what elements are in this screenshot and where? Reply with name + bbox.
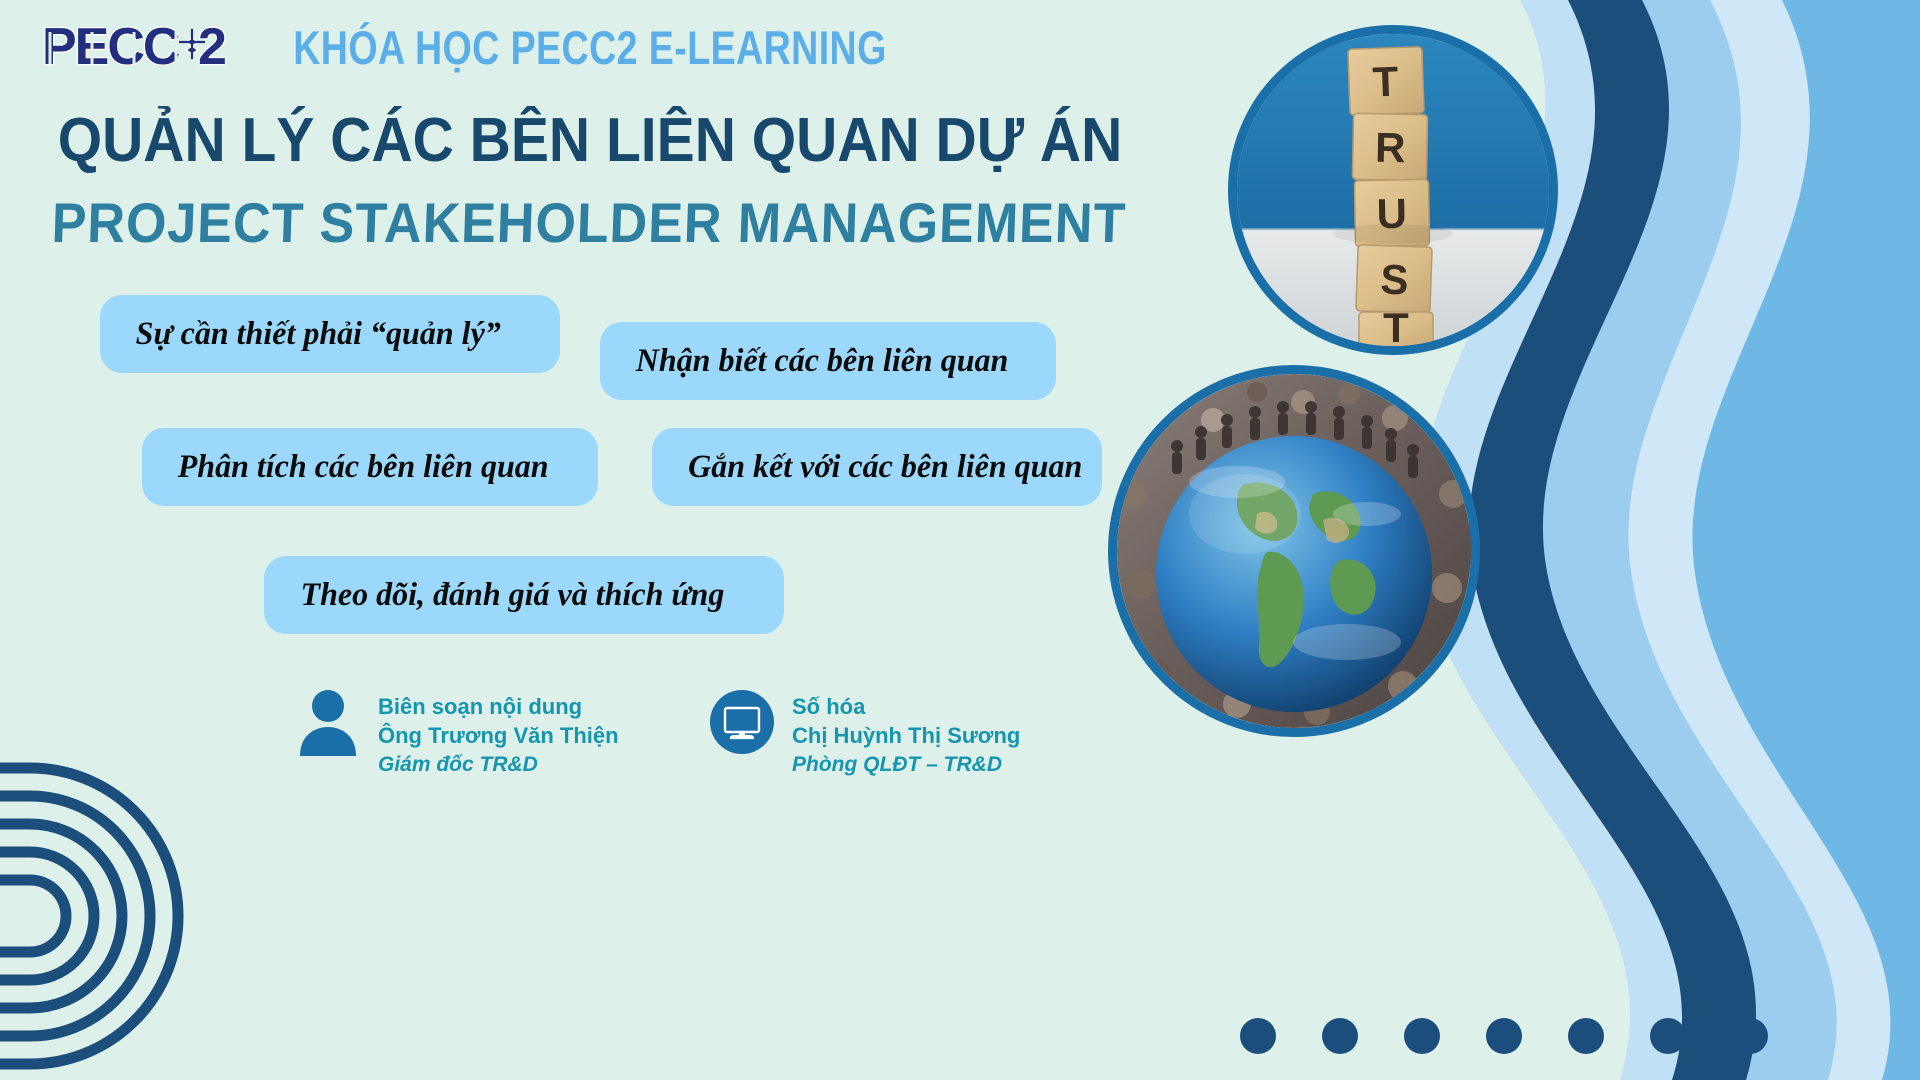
monitor-icon — [710, 688, 774, 756]
topic-pill-5[interactable]: Theo dõi, đánh giá và thích ứng — [264, 556, 784, 634]
topic-pill-1[interactable]: Sự cần thiết phải “quản lý” — [100, 295, 560, 373]
topic-pill-2-label: Nhận biết các bên liên quan — [636, 343, 1009, 380]
dot-5 — [1568, 1018, 1604, 1054]
credit-digitizer-lines: Số hóa Chị Huỳnh Thị Sương Phòng QLĐT – … — [792, 688, 1020, 779]
credit-author-name: Ông Trương Văn Thiện — [378, 721, 619, 750]
dot-4 — [1486, 1018, 1522, 1054]
credit-digitizer-dept: Phòng QLĐT – TR&D — [792, 751, 1020, 780]
dot-6 — [1650, 1018, 1686, 1054]
topic-pill-5-label: Theo dõi, đánh giá và thích ứng — [301, 577, 725, 614]
topic-pill-2[interactable]: Nhận biết các bên liên quan — [600, 322, 1056, 400]
dot-3 — [1404, 1018, 1440, 1054]
course-kicker: KHÓA HỌC PECC2 E-LEARNING — [118, 20, 1062, 75]
page-title-vietnamese: QUẢN LÝ CÁC BÊN LIÊN QUAN DỰ ÁN — [47, 105, 1133, 176]
credit-author-lines: Biên soạn nội dung Ông Trương Văn Thiện … — [378, 688, 619, 779]
topic-pill-1-label: Sự cần thiết phải “quản lý” — [136, 316, 501, 353]
svg-text:R: R — [1375, 124, 1406, 172]
svg-text:T: T — [1372, 58, 1400, 106]
topic-pill-4[interactable]: Gắn kết với các bên liên quan — [652, 428, 1102, 506]
credit-digitizer-role: Số hóa — [792, 692, 1020, 721]
topic-pill-3-label: Phân tích các bên liên quan — [178, 449, 549, 486]
topic-pill-3[interactable]: Phân tích các bên liên quan — [142, 428, 598, 506]
arc-decoration — [0, 750, 260, 1080]
person-icon — [296, 688, 360, 756]
dot-1 — [1240, 1018, 1276, 1054]
page-title-english: PROJECT STAKEHOLDER MANAGEMENT — [39, 190, 1139, 255]
poster-canvas: PECC 2 KHÓA HỌC PECC2 E-LEARNING QUẢN LÝ… — [0, 0, 1920, 1080]
dot-decoration — [1240, 1018, 1768, 1054]
credit-author-dept: Giám đốc TR&D — [378, 751, 619, 780]
dot-2 — [1322, 1018, 1358, 1054]
credit-author-role: Biên soạn nội dung — [378, 692, 619, 721]
svg-text:S: S — [1380, 256, 1410, 304]
credit-author: Biên soạn nội dung Ông Trương Văn Thiện … — [296, 688, 619, 779]
dot-7 — [1732, 1018, 1768, 1054]
credit-digitizer: Số hóa Chị Huỳnh Thị Sương Phòng QLĐT – … — [710, 688, 1020, 779]
globe-crowd-photo — [1108, 365, 1480, 737]
trust-blocks-photo: T R U S T — [1228, 25, 1558, 355]
topic-pill-4-label: Gắn kết với các bên liên quan — [688, 449, 1082, 486]
credit-digitizer-name: Chị Huỳnh Thị Sương — [792, 721, 1020, 750]
svg-text:T: T — [1383, 304, 1409, 346]
